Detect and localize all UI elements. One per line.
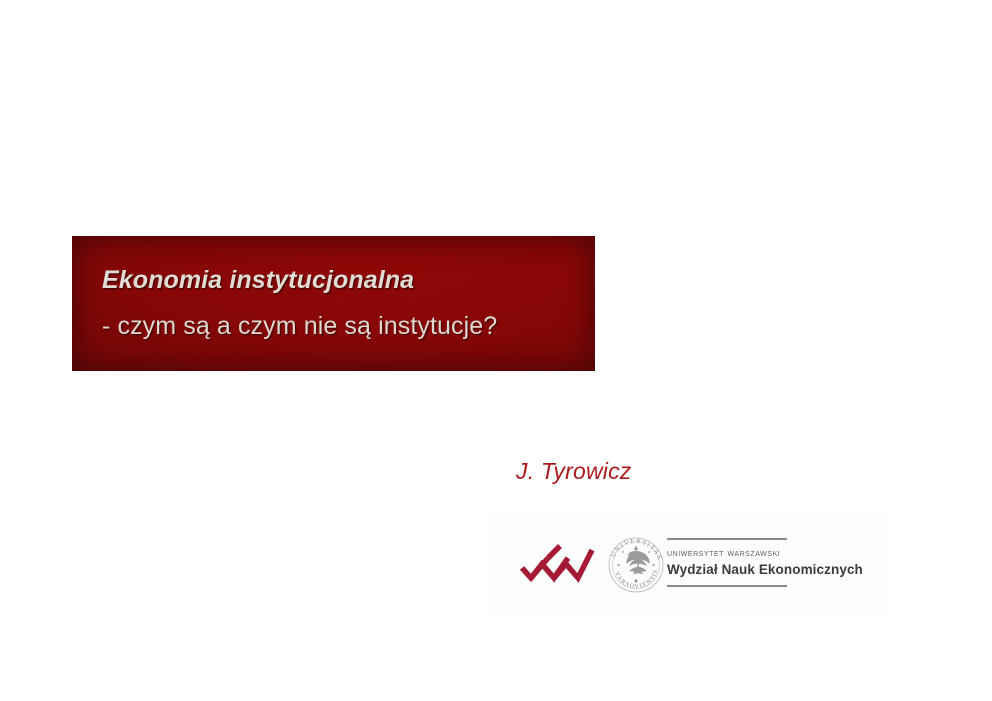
zigzag-w-mark-icon (520, 542, 596, 586)
university-name: Uniwersytet Warszawski (667, 546, 875, 560)
university-eagle-seal-icon: UNIVERSITAS VARSOVIENSIS (605, 532, 667, 596)
title-banner-text-container: Ekonomia instytucjonalna - czym są a czy… (102, 236, 581, 371)
faculty-name: Wydział Nauk Ekonomicznych (667, 561, 875, 579)
university-wordmark: Uniwersytet Warszawski Wydział Nauk Ekon… (667, 538, 875, 587)
slide-title-primary: Ekonomia instytucjonalna (102, 266, 414, 295)
title-banner: Ekonomia instytucjonalna - czym są a czy… (72, 236, 595, 371)
presentation-slide: Ekonomia instytucjonalna - czym są a czy… (0, 0, 992, 701)
wordmark-rule-bottom (667, 585, 787, 587)
wordmark-rule-top (667, 538, 787, 540)
slide-title-subtitle: - czym są a czym nie są instytucje? (102, 312, 497, 341)
university-logo-panel: UNIVERSITAS VARSOVIENSIS (487, 512, 884, 613)
author-name: J. Tyrowicz (516, 458, 632, 485)
